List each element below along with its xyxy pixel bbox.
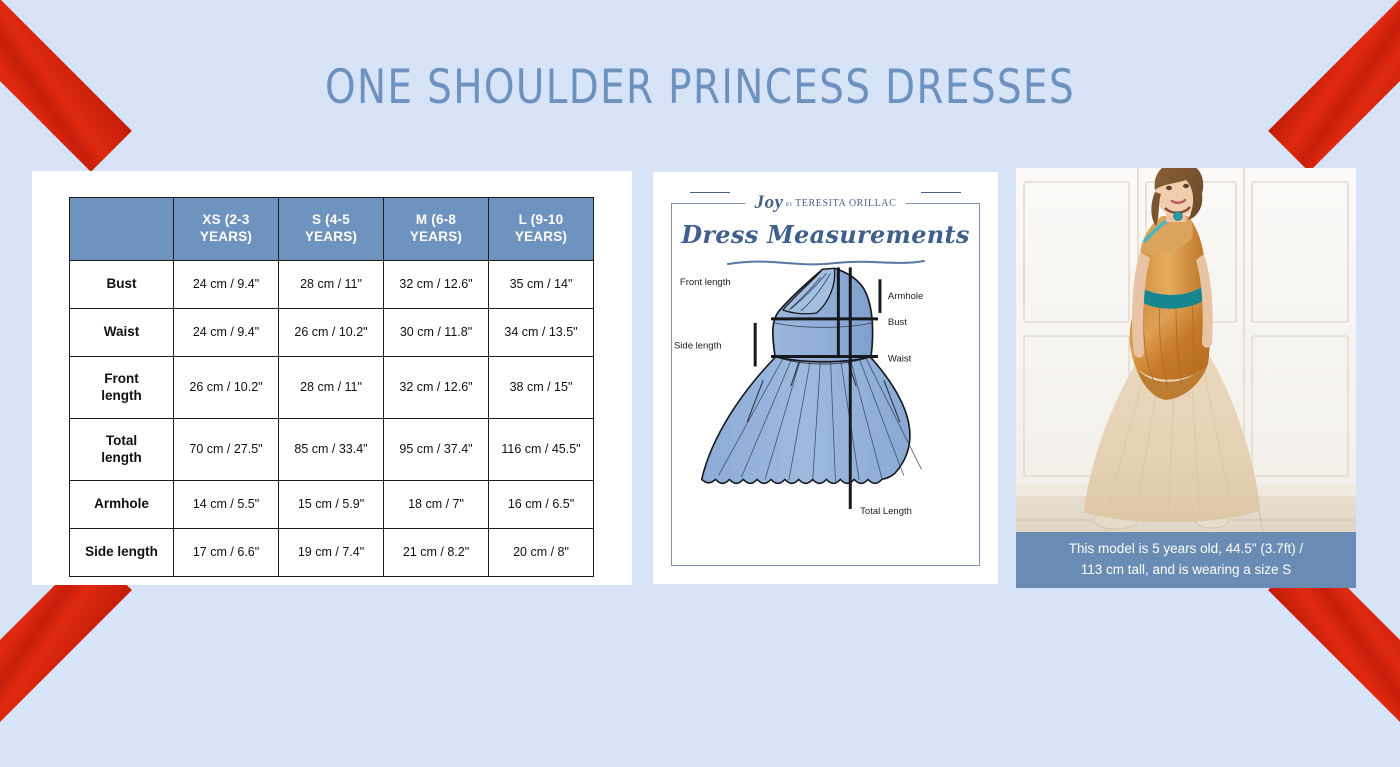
dress-measurements-card: JoybyTERESITA ORILLAC Dress Measurements [653,172,998,584]
table-row: Total length 70 cm / 27.5" 85 cm / 33.4"… [70,419,594,481]
dress-bodice [773,268,873,361]
table-row: Armhole 14 cm / 5.5" 15 cm / 5.9" 18 cm … [70,481,594,529]
caption-line-1: This model is 5 years old, 44.5" (3.7ft)… [1069,541,1303,556]
table-header-s: S (4-5 YEARS) [279,198,384,261]
diagram-label-front-length: Front length [680,277,731,288]
cell-front-length-xs: 26 cm / 10.2" [174,357,279,419]
header-line-2: YEARS) [385,229,487,246]
cell-total-length-xs: 70 cm / 27.5" [174,419,279,481]
table-header-m: M (6-8 YEARS) [384,198,489,261]
header-line-2: YEARS) [175,229,277,246]
table-row: Side length 17 cm / 6.6" 19 cm / 7.4" 21… [70,529,594,577]
cell-waist-m: 30 cm / 11.8" [384,309,489,357]
cell-front-length-s: 28 cm / 11" [279,357,384,419]
row-label-waist: Waist [70,309,174,357]
cell-total-length-m: 95 cm / 37.4" [384,419,489,481]
brand-designer-name: TERESITA ORILLAC [795,198,896,209]
table-row: Bust 24 cm / 9.4" 28 cm / 11" 32 cm / 12… [70,261,594,309]
diagram-label-bust: Bust [888,317,907,328]
table-row: Waist 24 cm / 9.4" 26 cm / 10.2" 30 cm /… [70,309,594,357]
header-line-1: S (4-5 [280,212,382,229]
row-label-line-2: length [71,450,172,467]
cell-side-length-s: 19 cm / 7.4" [279,529,384,577]
dress-skirt [702,357,922,484]
necklace-pendant [1174,212,1182,220]
page-title: ONE SHOULDER PRINCESS DRESSES [56,60,1344,115]
cell-side-length-l: 20 cm / 8" [489,529,594,577]
cell-total-length-l: 116 cm / 45.5" [489,419,594,481]
cell-waist-xs: 24 cm / 9.4" [174,309,279,357]
cell-armhole-l: 16 cm / 6.5" [489,481,594,529]
caption-line-2: 113 cm tall, and is wearing a size S [1081,562,1292,577]
brand-joy-wordmark: Joy [755,192,784,213]
cell-front-length-l: 38 cm / 15" [489,357,594,419]
row-label-armhole: Armhole [70,481,174,529]
cell-bust-l: 35 cm / 14" [489,261,594,309]
header-line-2: YEARS) [280,229,382,246]
cell-total-length-s: 85 cm / 33.4" [279,419,384,481]
row-label-side-length: Side length [70,529,174,577]
brand-by-text: by [786,199,794,208]
eye-left [1166,186,1172,190]
model-photo [1016,168,1356,588]
row-label-bust: Bust [70,261,174,309]
cell-bust-xs: 24 cm / 9.4" [174,261,279,309]
cell-bust-m: 32 cm / 12.6" [384,261,489,309]
cell-side-length-xs: 17 cm / 6.6" [174,529,279,577]
row-label-line-1: Total [71,433,172,450]
row-label-total-length: Total length [70,419,174,481]
header-line-1: L (9-10 [490,212,592,229]
diagram-label-side-length: Side length [674,341,722,352]
model-photo-card: This model is 5 years old, 44.5" (3.7ft)… [1016,168,1356,588]
model-photo-caption: This model is 5 years old, 44.5" (3.7ft)… [1016,532,1356,588]
header-line-2: YEARS) [490,229,592,246]
cell-waist-l: 34 cm / 13.5" [489,309,594,357]
cell-armhole-xs: 14 cm / 5.5" [174,481,279,529]
cell-armhole-s: 15 cm / 5.9" [279,481,384,529]
header-line-1: XS (2-3 [175,212,277,229]
size-chart-table: XS (2-3 YEARS) S (4-5 YEARS) M (6-8 YEAR… [69,197,594,577]
content-panels: XS (2-3 YEARS) S (4-5 YEARS) M (6-8 YEAR… [0,168,1400,588]
diagram-label-waist: Waist [888,353,912,364]
table-header-row: XS (2-3 YEARS) S (4-5 YEARS) M (6-8 YEAR… [70,198,594,261]
table-header-xs: XS (2-3 YEARS) [174,198,279,261]
cell-waist-s: 26 cm / 10.2" [279,309,384,357]
cell-front-length-m: 32 cm / 12.6" [384,357,489,419]
header-line-1: M (6-8 [385,212,487,229]
diagram-title: Dress Measurements [672,220,979,249]
dress-diagram-illustration: Front length Armhole Bust Side length Wa… [672,262,979,562]
brand-rule-left [690,192,730,193]
size-chart-card: XS (2-3 YEARS) S (4-5 YEARS) M (6-8 YEAR… [32,171,632,585]
cell-bust-s: 28 cm / 11" [279,261,384,309]
diagram-label-total-length: Total Length [860,506,912,517]
row-label-line-1: Front [71,371,172,388]
table-row: Front length 26 cm / 10.2" 28 cm / 11" 3… [70,357,594,419]
cell-armhole-m: 18 cm / 7" [384,481,489,529]
brand-rule-right [921,192,961,193]
table-header-l: L (9-10 YEARS) [489,198,594,261]
row-label-front-length: Front length [70,357,174,419]
brand-lockup: JoybyTERESITA ORILLAC [672,192,979,214]
row-label-line-2: length [71,388,172,405]
cell-side-length-m: 21 cm / 8.2" [384,529,489,577]
eye-right [1183,184,1189,188]
diagram-frame: JoybyTERESITA ORILLAC Dress Measurements [671,203,980,566]
table-header-corner [70,198,174,261]
diagram-label-armhole: Armhole [888,291,923,302]
